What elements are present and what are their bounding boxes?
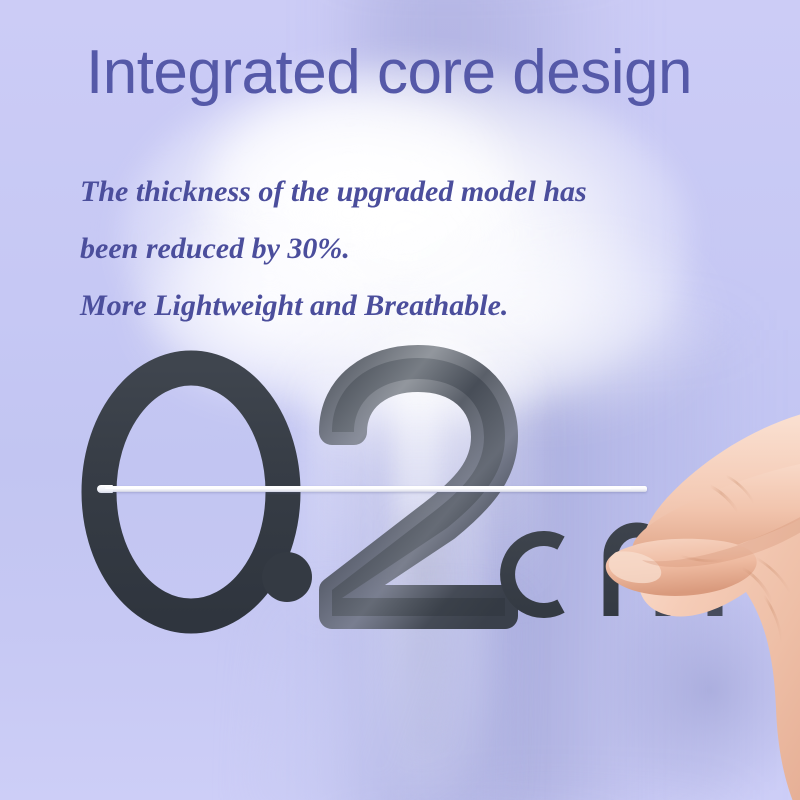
- background-diagonal-shade: [250, 600, 510, 800]
- subtitle-line-1: The thickness of the upgraded model has: [80, 163, 770, 220]
- hand-holding-strip: [560, 360, 800, 800]
- subtitle-line-3: More Lightweight and Breathable.: [80, 277, 770, 334]
- subtitle-line-2: been reduced by 30%.: [80, 220, 770, 277]
- product-feature-poster: Integrated core design The thickness of …: [0, 0, 800, 800]
- strip-highlight: [105, 487, 631, 489]
- page-title: Integrated core design: [86, 42, 692, 104]
- subtitle-block: The thickness of the upgraded model has …: [80, 163, 770, 334]
